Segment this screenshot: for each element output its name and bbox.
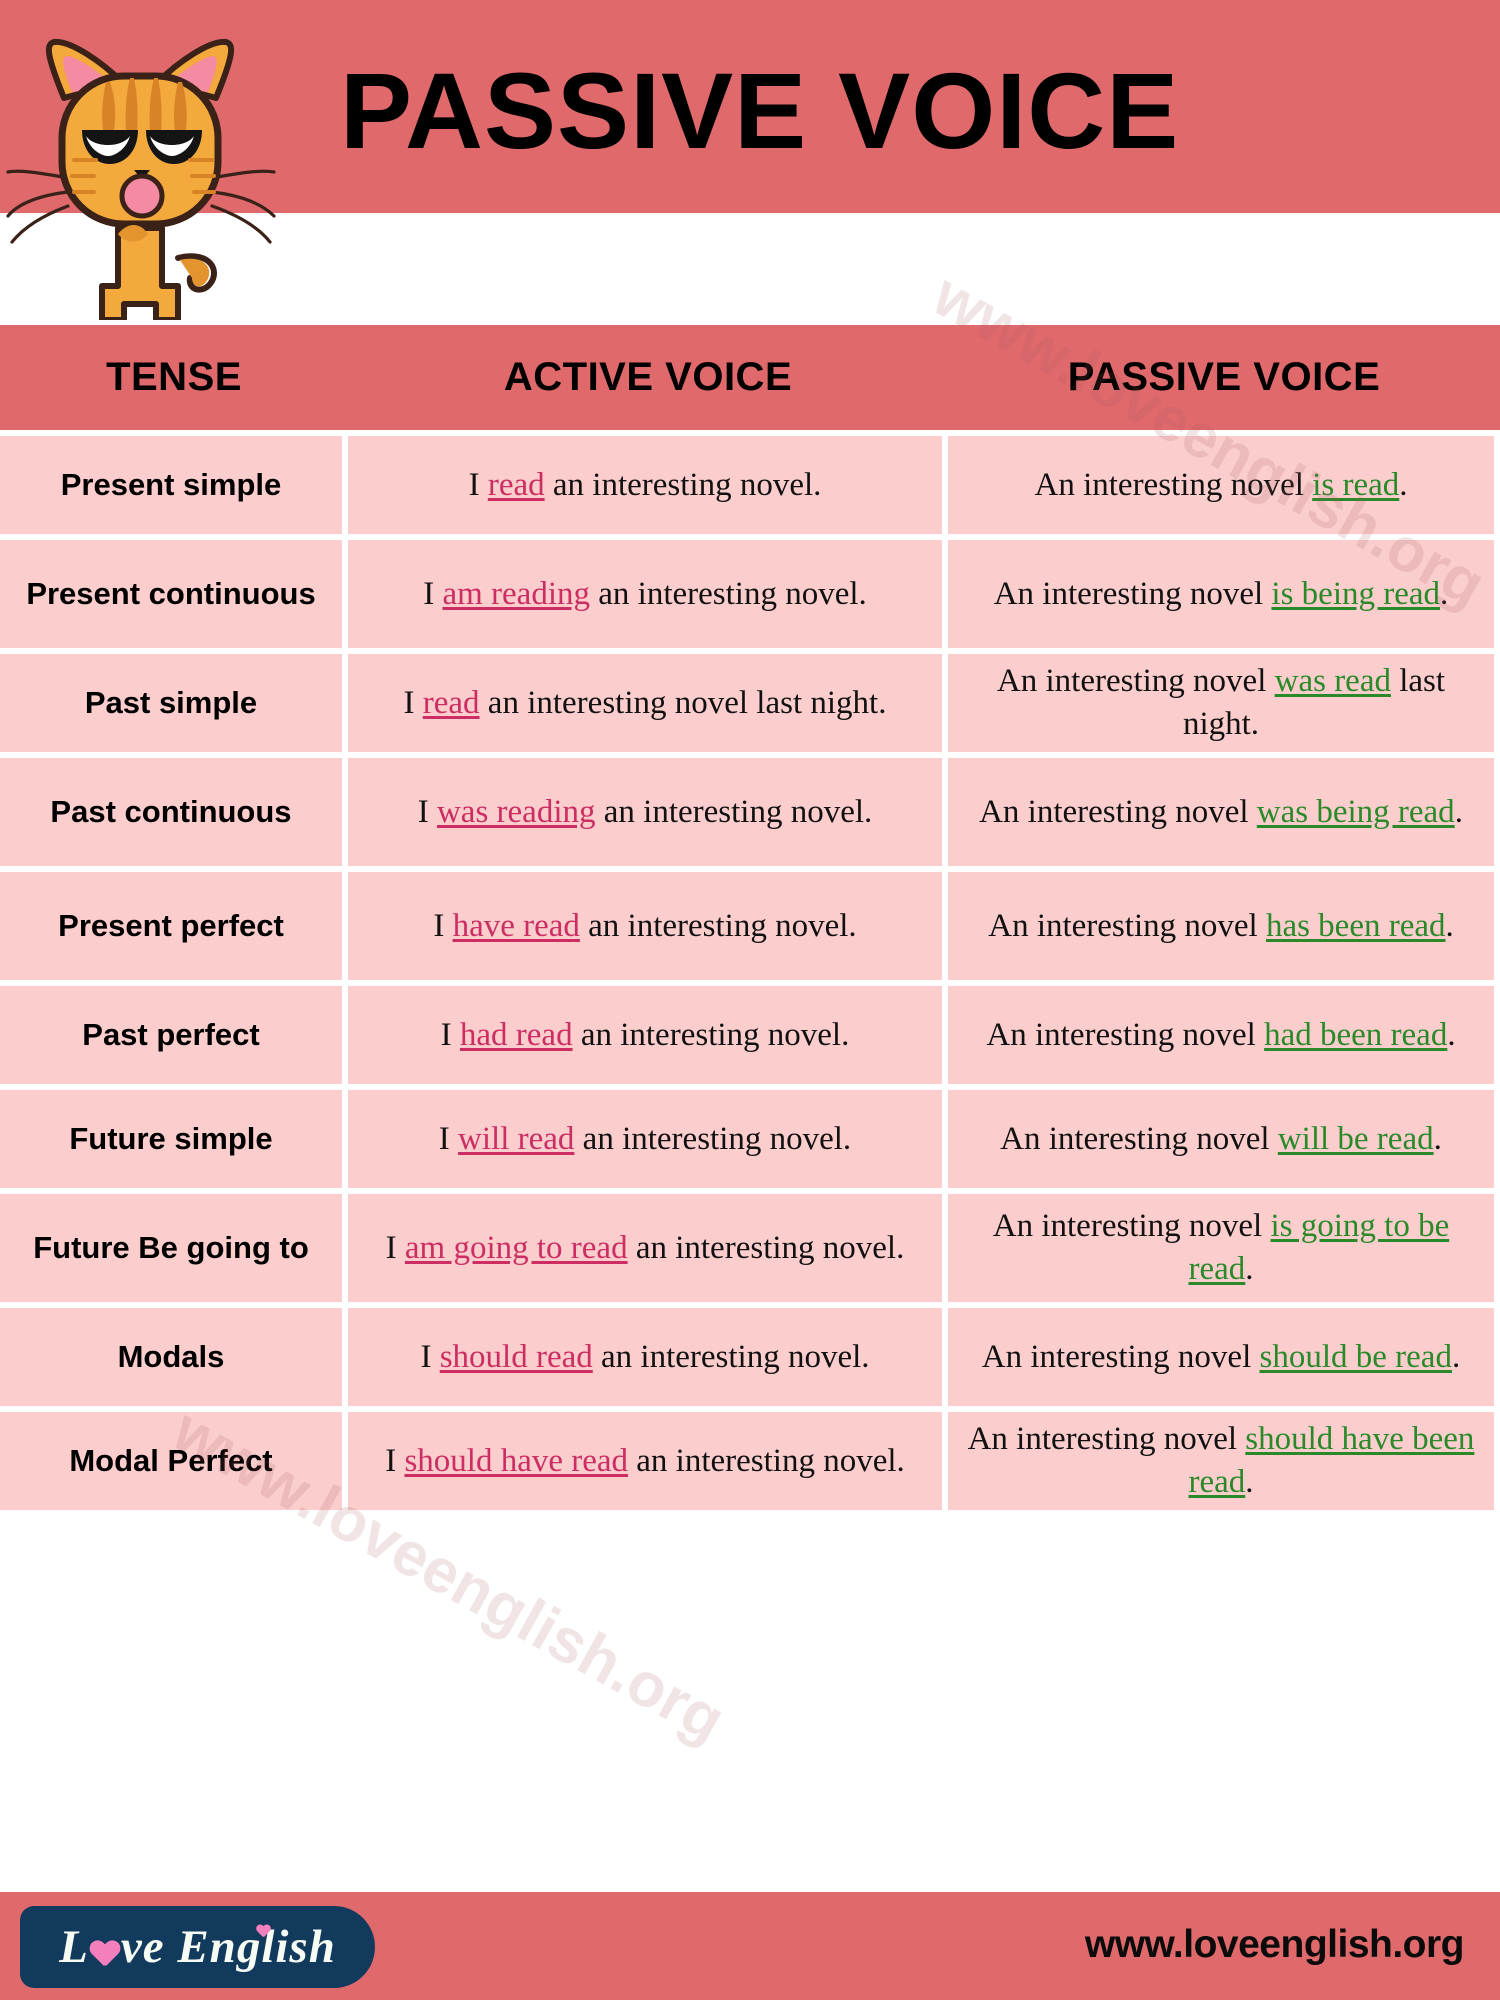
heart-icon [90,1939,120,1967]
tenses-table: TENSE ACTIVE VOICE PASSIVE VOICE Present… [0,325,1500,1516]
infographic-page: PASSIVE VOICE [0,0,1500,2000]
tense-label: Future Be going to [33,1229,309,1268]
banner-white-gap [0,213,1500,325]
footer-website-url[interactable]: www.loveenglish.org [1085,1923,1464,1967]
table-header-row: TENSE ACTIVE VOICE PASSIVE VOICE [0,325,1500,430]
column-header-passive-voice: PASSIVE VOICE [948,325,1500,430]
sentence-suffix: an interesting novel. [628,1230,905,1266]
table-row: Past continuousI was reading an interest… [0,758,1500,866]
table-row: Modal PerfectI should have read an inter… [0,1412,1500,1510]
tense-label: Present perfect [58,907,284,946]
table-row: Future simpleI will read an interesting … [0,1090,1500,1188]
passive-sentence: An interesting novel has been read. [988,905,1454,948]
table-row: Past perfectI had read an interesting no… [0,986,1500,1084]
sentence-prefix: An interesting novel [986,1017,1264,1053]
cell-active-voice: I was reading an interesting novel. [348,758,942,866]
sentence-prefix: An interesting novel [993,1208,1271,1244]
sentence-prefix: I [469,467,488,503]
sentence-prefix: An interesting novel [988,908,1266,944]
table-row: Present continuousI am reading an intere… [0,540,1500,648]
active-sentence: I should read an interesting novel. [420,1336,869,1379]
table-row: Past simpleI read an interesting novel l… [0,654,1500,752]
title-banner: PASSIVE VOICE [0,0,1500,213]
heart-dot-icon [256,1924,271,1938]
sentence-suffix: an interesting novel. [596,794,873,830]
highlighted-verb: will be read [1278,1121,1434,1157]
sentence-suffix: an interesting novel. [590,576,867,612]
active-sentence: I have read an interesting novel. [433,905,856,948]
passive-sentence: An interesting novel is going to be read… [962,1205,1480,1291]
passive-sentence: An interesting novel is read. [1035,464,1408,507]
cell-active-voice: I read an interesting novel. [348,436,942,534]
active-sentence: I read an interesting novel. [469,464,822,507]
cell-tense: Present perfect [0,872,342,980]
passive-sentence: An interesting novel should be read. [982,1336,1460,1379]
sentence-suffix: . [1245,1464,1253,1500]
cell-passive-voice: An interesting novel has been read. [948,872,1494,980]
highlighted-verb: should have read [404,1443,628,1479]
cell-active-voice: I will read an interesting novel. [348,1090,942,1188]
cell-tense: Future simple [0,1090,342,1188]
tense-label: Past perfect [82,1016,259,1055]
highlighted-verb: is being read [1271,576,1440,612]
cell-passive-voice: An interesting novel is read. [948,436,1494,534]
active-sentence: I am reading an interesting novel. [423,573,867,616]
sentence-prefix: An interesting novel [979,794,1257,830]
sentence-prefix: I [423,576,442,612]
sentence-suffix: . [1434,1121,1442,1157]
sentence-prefix: An interesting novel [1000,1121,1278,1157]
sentence-prefix: I [441,1017,460,1053]
active-sentence: I am going to read an interesting novel. [386,1227,905,1270]
cell-active-voice: I have read an interesting novel. [348,872,942,980]
highlighted-verb: have read [453,908,580,944]
active-sentence: I should have read an interesting novel. [385,1440,905,1483]
tense-label: Future simple [69,1120,272,1159]
page-title: PASSIVE VOICE [340,48,1480,173]
cell-passive-voice: An interesting novel is going to be read… [948,1194,1494,1302]
passive-sentence: An interesting novel will be read. [1000,1118,1442,1161]
sentence-prefix: I [420,1339,439,1375]
cell-tense: Past simple [0,654,342,752]
cell-passive-voice: An interesting novel was being read. [948,758,1494,866]
sentence-suffix: an interesting novel. [628,1443,905,1479]
cell-passive-voice: An interesting novel was read last night… [948,654,1494,752]
column-header-active-voice: ACTIVE VOICE [348,325,948,430]
cell-tense: Past perfect [0,986,342,1084]
sentence-prefix: I [439,1121,458,1157]
logo-label: Lve English [59,1920,336,1974]
active-sentence: I had read an interesting novel. [441,1014,850,1057]
sentence-suffix: . [1245,1251,1253,1287]
tense-label: Present simple [61,466,282,505]
sentence-suffix: . [1446,908,1454,944]
sentence-suffix: . [1447,1017,1455,1053]
table-row: Present perfectI have read an interestin… [0,872,1500,980]
passive-sentence: An interesting novel was read last night… [962,660,1480,746]
highlighted-verb: was read [1275,663,1391,699]
cell-active-voice: I should have read an interesting novel. [348,1412,942,1510]
highlighted-verb: am reading [442,576,590,612]
sentence-prefix: I [404,685,423,721]
active-sentence: I read an interesting novel last night. [404,682,887,725]
cell-tense: Modal Perfect [0,1412,342,1510]
highlighted-verb: is read [1312,467,1399,503]
cell-passive-voice: An interesting novel is being read. [948,540,1494,648]
cell-active-voice: I should read an interesting novel. [348,1308,942,1406]
tense-label: Modal Perfect [69,1442,272,1481]
sentence-prefix: An interesting novel [997,663,1275,699]
cell-active-voice: I am going to read an interesting novel. [348,1194,942,1302]
logo-l: L [59,1921,89,1973]
cell-active-voice: I had read an interesting novel. [348,986,942,1084]
footer-bar: Lve English www.loveenglish.org [0,1892,1500,2000]
sentence-prefix: An interesting novel [1035,467,1313,503]
sentence-suffix: . [1455,794,1463,830]
cell-tense: Present continuous [0,540,342,648]
tense-label: Past continuous [50,793,291,832]
table-row: Future Be going toI am going to read an … [0,1194,1500,1302]
cell-passive-voice: An interesting novel had been read. [948,986,1494,1084]
sentence-prefix: I [418,794,437,830]
column-header-tense: TENSE [0,325,348,430]
sentence-suffix: an interesting novel. [593,1339,870,1375]
highlighted-verb: was reading [437,794,596,830]
sentence-prefix: I [385,1443,404,1479]
passive-sentence: An interesting novel was being read. [979,791,1463,834]
cell-passive-voice: An interesting novel should have been re… [948,1412,1494,1510]
highlighted-verb: read [488,467,545,503]
cell-tense: Past continuous [0,758,342,866]
highlighted-verb: will read [458,1121,574,1157]
highlighted-verb: read [423,685,480,721]
cell-tense: Future Be going to [0,1194,342,1302]
tense-label: Modals [118,1338,225,1377]
cell-passive-voice: An interesting novel will be read. [948,1090,1494,1188]
highlighted-verb: should read [440,1339,593,1375]
sentence-prefix: An interesting novel [982,1339,1260,1375]
highlighted-verb: was being read [1257,794,1455,830]
highlighted-verb: had read [460,1017,573,1053]
table-row: Present simpleI read an interesting nove… [0,436,1500,534]
table-body: Present simpleI read an interesting nove… [0,436,1500,1510]
sentence-suffix: an interesting novel. [573,1017,850,1053]
highlighted-verb: should be read [1260,1339,1452,1375]
sentence-suffix: an interesting novel last night. [480,685,887,721]
highlighted-verb: am going to read [405,1230,628,1266]
sentence-suffix: an interesting novel. [574,1121,851,1157]
sentence-prefix: An interesting novel [968,1421,1246,1457]
cell-tense: Modals [0,1308,342,1406]
sentence-prefix: I [386,1230,405,1266]
cell-tense: Present simple [0,436,342,534]
sentence-suffix: . [1452,1339,1460,1375]
active-sentence: I was reading an interesting novel. [418,791,873,834]
sentence-prefix: I [433,908,452,944]
sentence-suffix: an interesting novel. [545,467,822,503]
highlighted-verb: has been read [1266,908,1446,944]
sentence-suffix: . [1440,576,1448,612]
passive-sentence: An interesting novel had been read. [986,1014,1455,1057]
sentence-suffix: an interesting novel. [580,908,857,944]
passive-sentence: An interesting novel should have been re… [962,1418,1480,1504]
logo-ve: ve [121,1921,165,1973]
cell-active-voice: I am reading an interesting novel. [348,540,942,648]
sentence-suffix: . [1399,467,1407,503]
sentence-prefix: An interesting novel [994,576,1272,612]
tense-label: Present continuous [26,575,315,614]
active-sentence: I will read an interesting novel. [439,1118,851,1161]
highlighted-verb: had been read [1264,1017,1447,1053]
table-row: ModalsI should read an interesting novel… [0,1308,1500,1406]
cell-active-voice: I read an interesting novel last night. [348,654,942,752]
cell-passive-voice: An interesting novel should be read. [948,1308,1494,1406]
tense-label: Past simple [85,684,257,723]
love-english-logo[interactable]: Lve English [20,1906,375,1988]
passive-sentence: An interesting novel is being read. [994,573,1449,616]
